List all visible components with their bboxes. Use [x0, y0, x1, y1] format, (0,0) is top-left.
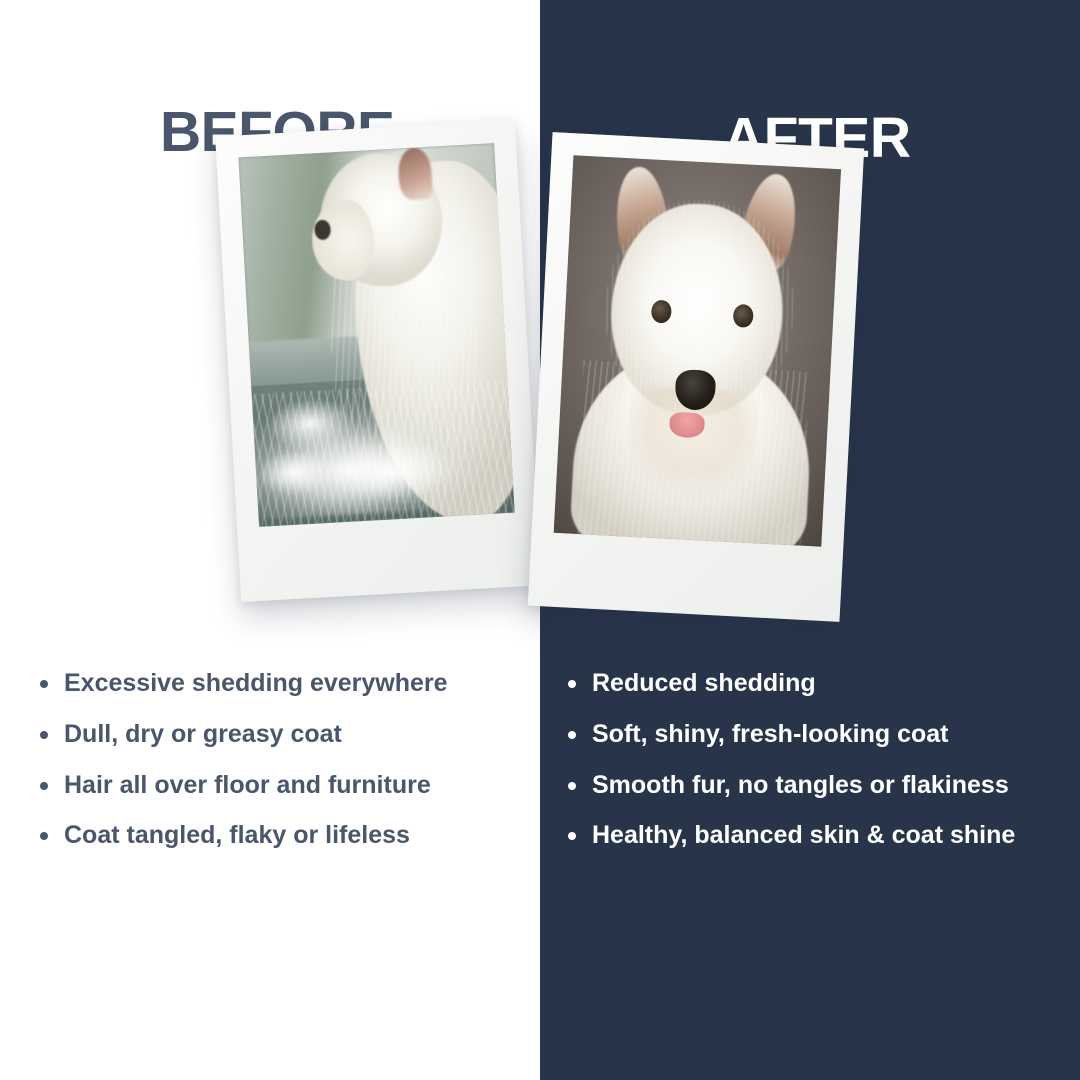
before-photo: [238, 143, 514, 527]
list-item: Excessive shedding everywhere: [32, 664, 532, 703]
list-item: Reduced shedding: [560, 664, 1066, 703]
before-polaroid: [215, 120, 541, 602]
list-item: Hair all over floor and furniture: [32, 766, 532, 805]
comparison-graphic: BEFORE AFTER: [0, 0, 1080, 1080]
after-photo: [554, 155, 841, 547]
shed-fur-strands: [252, 380, 515, 527]
list-item: Dull, dry or greasy coat: [32, 715, 532, 754]
before-bullet-list: Excessive shedding everywhere Dull, dry …: [32, 664, 532, 867]
list-item: Healthy, balanced skin & coat shine: [560, 816, 1066, 855]
list-item: Coat tangled, flaky or lifeless: [32, 816, 532, 855]
after-polaroid: [528, 132, 864, 622]
after-photo-scene: [554, 155, 841, 547]
after-bullet-list: Reduced shedding Soft, shiny, fresh-look…: [560, 664, 1066, 867]
list-item: Soft, shiny, fresh-looking coat: [560, 715, 1066, 754]
dog-eye-right-shape: [732, 304, 753, 328]
before-photo-scene: [238, 143, 514, 527]
list-item: Smooth fur, no tangles or flakiness: [560, 766, 1066, 805]
